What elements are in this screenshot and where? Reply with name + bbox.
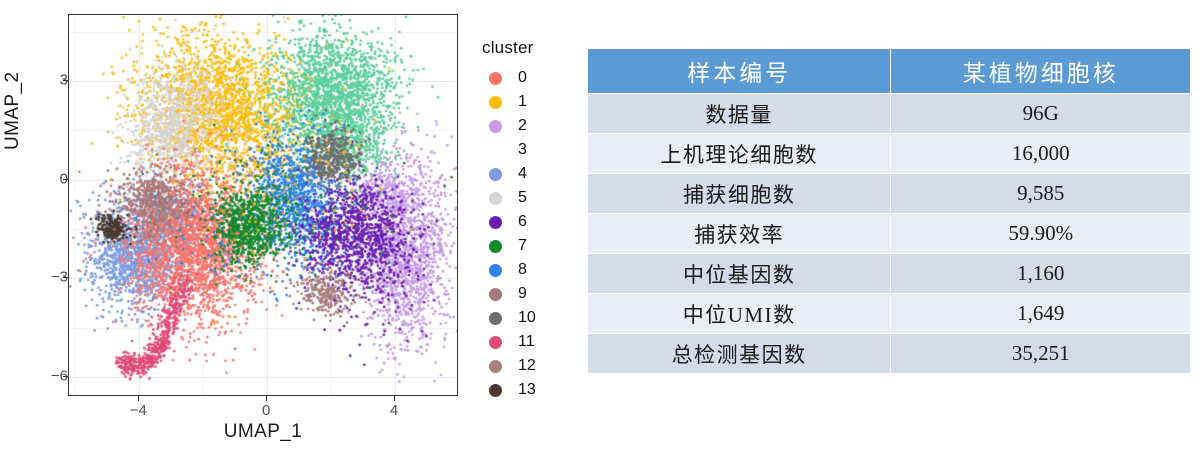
metric-name-text: 捕获效率 xyxy=(694,223,784,247)
metric-name-text: 捕获细胞数 xyxy=(683,183,796,207)
legend-item-7[interactable]: 7 xyxy=(482,234,577,258)
table-row: 中位基因数1,160 xyxy=(588,254,1190,293)
table-row: 捕获细胞数9,585 xyxy=(588,174,1190,213)
legend-item-label: 1 xyxy=(518,93,527,111)
sample-stats-table: 样本编号 某植物细胞核 数据量96G上机理论细胞数16,000捕获细胞数9,58… xyxy=(588,48,1190,374)
metric-name-text: 中位基因数 xyxy=(683,263,796,287)
legend-color-swatch xyxy=(489,96,502,109)
x-tick-mark xyxy=(266,396,267,401)
table-header: 样本编号 某植物细胞核 xyxy=(588,49,1190,93)
legend-color-swatch xyxy=(489,240,502,253)
metric-name-text: 总检测基因数 xyxy=(672,343,807,367)
legend-item-label: 8 xyxy=(518,261,527,279)
legend-item-label: 11 xyxy=(518,333,535,351)
metric-name-text: 上机理论细胞数 xyxy=(660,143,818,167)
legend-item-12[interactable]: 12 xyxy=(482,354,577,378)
cell-metric-name: 总检测基因数 xyxy=(588,334,891,373)
legend-item-label: 0 xyxy=(518,69,527,87)
legend-item-label: 12 xyxy=(518,357,536,375)
header-cell-sample-id: 样本编号 xyxy=(588,49,891,93)
table-row: 捕获效率59.90% xyxy=(588,214,1190,253)
cell-metric-name: 中位基因数 xyxy=(588,254,891,293)
legend-color-swatch xyxy=(489,216,502,229)
legend-color-swatch xyxy=(489,192,502,205)
legend-item-label: 9 xyxy=(518,285,527,303)
legend-item-label: 10 xyxy=(518,309,536,327)
legend-item-10[interactable]: 10 xyxy=(482,306,577,330)
legend-item-3[interactable]: 3 xyxy=(482,138,577,162)
legend-item-label: 3 xyxy=(518,141,527,159)
cell-metric-value: 16,000 xyxy=(891,134,1190,173)
legend-items: 012345678910111213 xyxy=(482,66,577,402)
x-tick-label: 0 xyxy=(246,402,286,419)
legend-title: cluster xyxy=(482,38,577,58)
legend-item-1[interactable]: 1 xyxy=(482,90,577,114)
legend-item-13[interactable]: 13 xyxy=(482,378,577,402)
legend-color-swatch xyxy=(489,264,502,277)
y-axis-ticks: 30−3−6 xyxy=(32,0,68,453)
cell-metric-name: 数据量 xyxy=(588,94,891,133)
plot-panel xyxy=(68,14,458,396)
table-row: 数据量96G xyxy=(588,94,1190,133)
legend-color-swatch xyxy=(489,72,502,85)
legend-color-swatch xyxy=(489,360,502,373)
legend-item-4[interactable]: 4 xyxy=(482,162,577,186)
legend-color-swatch xyxy=(489,144,502,157)
cell-metric-name: 上机理论细胞数 xyxy=(588,134,891,173)
legend-item-label: 4 xyxy=(518,165,527,183)
cluster-legend: cluster 012345678910111213 xyxy=(482,38,577,402)
legend-item-11[interactable]: 11 xyxy=(482,330,577,354)
legend-item-label: 5 xyxy=(518,189,527,207)
cell-metric-value: 35,251 xyxy=(891,334,1190,373)
table-body: 数据量96G上机理论细胞数16,000捕获细胞数9,585捕获效率59.90%中… xyxy=(588,94,1190,373)
legend-item-5[interactable]: 5 xyxy=(482,186,577,210)
table-row: 中位UMI数1,649 xyxy=(588,294,1190,333)
cell-metric-name: 中位UMI数 xyxy=(588,294,891,333)
cell-metric-value: 59.90% xyxy=(891,214,1190,253)
legend-item-6[interactable]: 6 xyxy=(482,210,577,234)
legend-item-label: 13 xyxy=(518,381,536,399)
legend-item-8[interactable]: 8 xyxy=(482,258,577,282)
metric-name-text: 数据量 xyxy=(705,103,773,127)
legend-color-swatch xyxy=(489,168,502,181)
y-axis-title: UMAP_2 xyxy=(2,72,24,150)
legend-item-2[interactable]: 2 xyxy=(482,114,577,138)
legend-color-swatch xyxy=(489,312,502,325)
cell-metric-name: 捕获细胞数 xyxy=(588,174,891,213)
cell-metric-value: 1,649 xyxy=(891,294,1190,333)
table-row: 总检测基因数35,251 xyxy=(588,334,1190,373)
cell-metric-value: 96G xyxy=(891,94,1190,133)
legend-color-swatch xyxy=(489,384,502,397)
umap-scatter-figure: UMAP_2 UMAP_1 30−3−6 −404 cluster 012345… xyxy=(0,0,580,453)
cell-metric-value: 1,160 xyxy=(891,254,1190,293)
table-header-row: 样本编号 某植物细胞核 xyxy=(588,49,1190,93)
x-tick-mark xyxy=(138,396,139,401)
cell-metric-value: 9,585 xyxy=(891,174,1190,213)
legend-item-9[interactable]: 9 xyxy=(482,282,577,306)
legend-item-label: 6 xyxy=(518,213,527,231)
legend-color-swatch xyxy=(489,336,502,349)
legend-item-label: 7 xyxy=(518,237,527,255)
legend-item-0[interactable]: 0 xyxy=(482,66,577,90)
cell-metric-name: 捕获效率 xyxy=(588,214,891,253)
legend-item-label: 2 xyxy=(518,117,527,135)
table-row: 上机理论细胞数16,000 xyxy=(588,134,1190,173)
scatter-points-canvas xyxy=(69,15,458,396)
x-axis-title: UMAP_1 xyxy=(68,421,458,443)
x-tick-label: 4 xyxy=(374,402,414,419)
legend-color-swatch xyxy=(489,288,502,301)
x-tick-label: −4 xyxy=(118,402,158,419)
metric-name-text: 中位UMI数 xyxy=(683,303,796,327)
header-cell-sample-value: 某植物细胞核 xyxy=(891,49,1190,93)
legend-color-swatch xyxy=(489,120,502,133)
x-tick-mark xyxy=(394,396,395,401)
